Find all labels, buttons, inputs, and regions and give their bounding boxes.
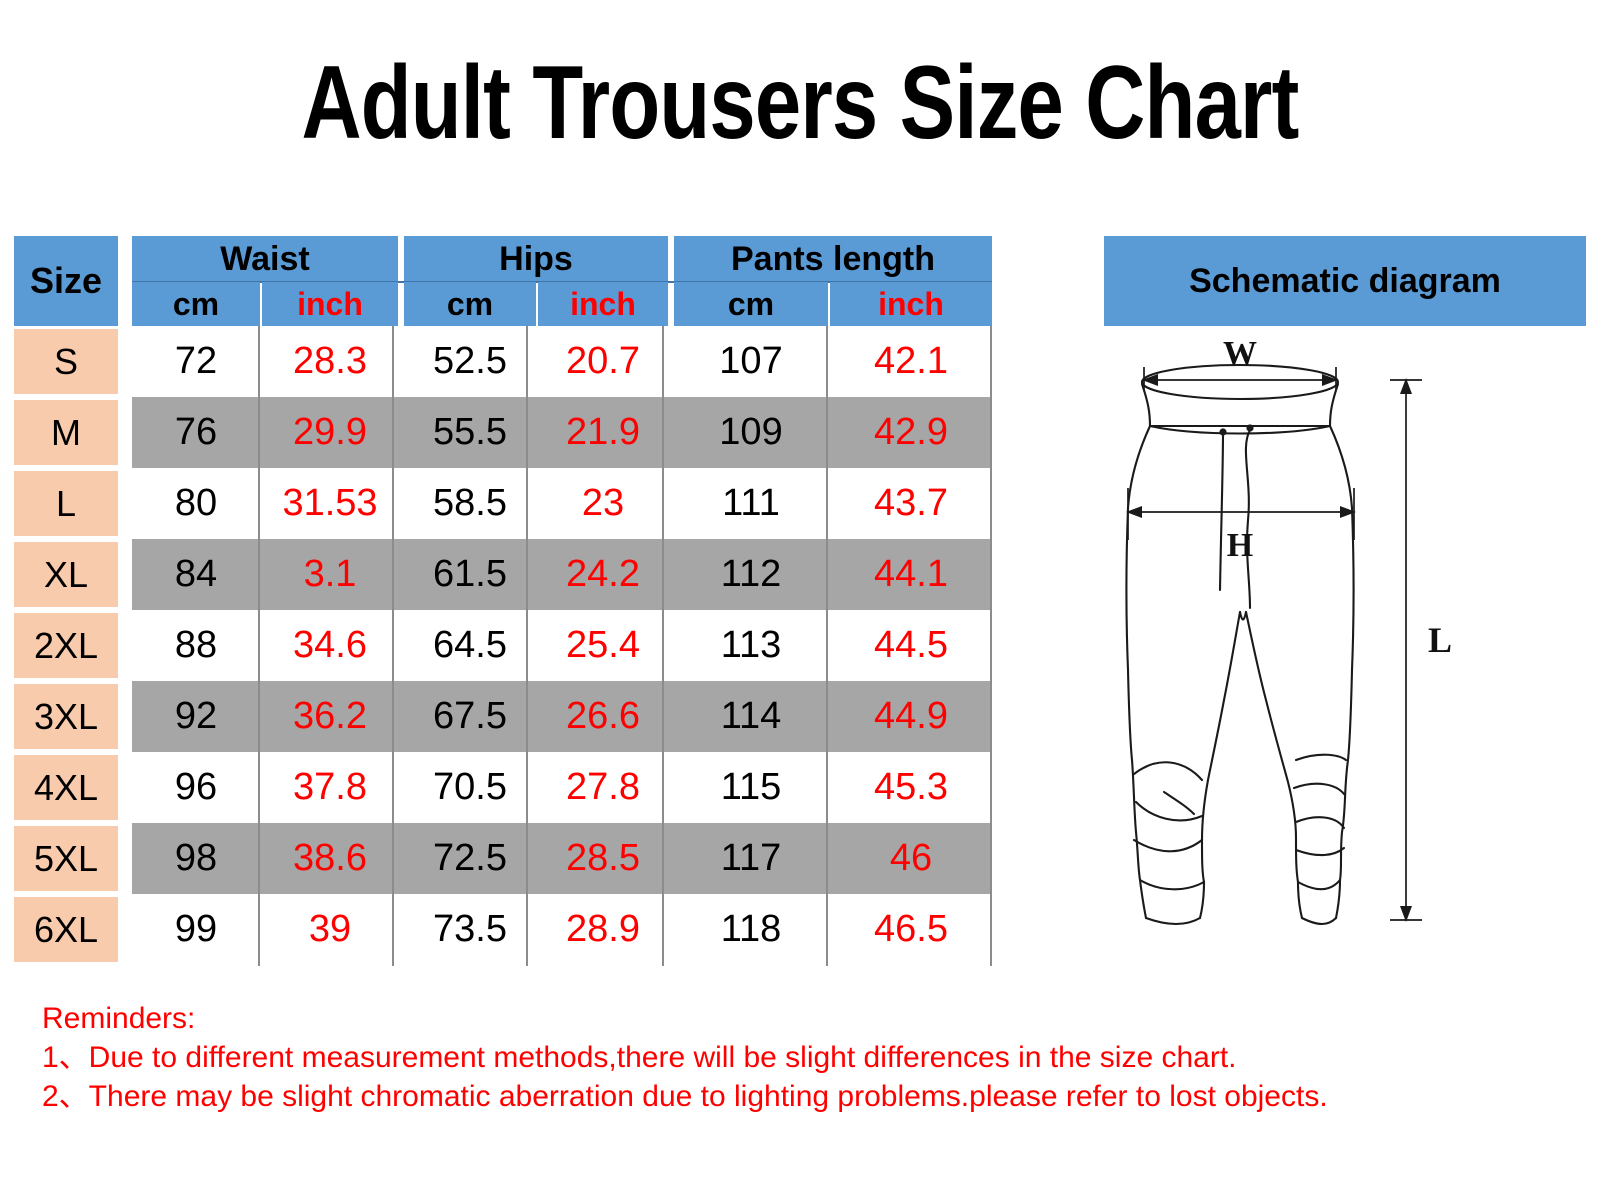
left-cuff-seam bbox=[1134, 840, 1202, 851]
cell-hips-inch: 28.5 bbox=[538, 823, 668, 894]
column-header-size: Size bbox=[14, 236, 118, 326]
right-hem-edge-r bbox=[1336, 880, 1340, 918]
cell-hips-inch: 28.9 bbox=[538, 894, 668, 965]
size-cell: 3XL bbox=[14, 684, 118, 749]
left-hem-edge-l bbox=[1140, 880, 1146, 918]
trousers-drawing-svg: W H L bbox=[1090, 340, 1510, 940]
column-header-length-cm: cm bbox=[674, 282, 828, 326]
column-header-schematic-diagram: Schematic diagram bbox=[1104, 236, 1586, 326]
size-cell: S bbox=[14, 329, 118, 394]
cell-length-inch: 46 bbox=[830, 823, 992, 894]
column-header-hips-cm: cm bbox=[404, 282, 536, 326]
column-group-hips: Hips bbox=[404, 236, 668, 282]
cell-waist-cm: 72 bbox=[132, 326, 260, 397]
grid-line bbox=[258, 326, 260, 966]
eyelet-left bbox=[1219, 428, 1226, 435]
cell-length-cm: 109 bbox=[674, 397, 828, 468]
drawstring-right bbox=[1246, 430, 1250, 608]
cell-hips-cm: 61.5 bbox=[404, 539, 536, 610]
table-header: Size Waist Hips Pants length cm inch cm … bbox=[14, 236, 1586, 326]
cell-hips-cm: 55.5 bbox=[404, 397, 536, 468]
size-cell: 5XL bbox=[14, 826, 118, 891]
column-header-waist-inch: inch bbox=[262, 282, 398, 326]
cell-waist-inch: 39 bbox=[262, 894, 398, 965]
cell-hips-cm: 64.5 bbox=[404, 610, 536, 681]
waistband-seam bbox=[1150, 426, 1330, 434]
cell-length-inch: 44.1 bbox=[830, 539, 992, 610]
left-hem bbox=[1140, 880, 1204, 889]
drawstring-left bbox=[1220, 432, 1223, 590]
cell-waist-cm: 92 bbox=[132, 681, 260, 752]
reminders-heading: Reminders: bbox=[42, 1000, 1582, 1037]
left-hem-bottom bbox=[1146, 918, 1200, 924]
reminder-line-1: 1、Due to different measurement methods,t… bbox=[42, 1039, 1582, 1076]
crotch-notch bbox=[1240, 612, 1246, 620]
grid-line bbox=[526, 326, 528, 966]
cell-length-cm: 112 bbox=[674, 539, 828, 610]
size-cell: 4XL bbox=[14, 755, 118, 820]
cell-waist-inch: 38.6 bbox=[262, 823, 398, 894]
size-cell: L bbox=[14, 471, 118, 536]
cell-length-inch: 44.9 bbox=[830, 681, 992, 752]
cell-waist-cm: 80 bbox=[132, 468, 260, 539]
length-label: L bbox=[1428, 620, 1452, 660]
cell-length-cm: 114 bbox=[674, 681, 828, 752]
cell-hips-cm: 72.5 bbox=[404, 823, 536, 894]
right-hem bbox=[1298, 880, 1340, 889]
size-cell: M bbox=[14, 400, 118, 465]
cell-hips-inch: 25.4 bbox=[538, 610, 668, 681]
right-hem-edge-l bbox=[1298, 882, 1302, 918]
cell-length-inch: 46.5 bbox=[830, 894, 992, 965]
cell-waist-inch: 29.9 bbox=[262, 397, 398, 468]
length-dimension bbox=[1390, 380, 1422, 920]
cell-length-cm: 107 bbox=[674, 326, 828, 397]
size-cell: 2XL bbox=[14, 613, 118, 678]
grid-line bbox=[662, 326, 664, 966]
size-cell: 6XL bbox=[14, 897, 118, 962]
cell-waist-inch: 28.3 bbox=[262, 326, 398, 397]
left-knee-crease-v bbox=[1164, 792, 1194, 814]
cell-waist-inch: 37.8 bbox=[262, 752, 398, 823]
cell-waist-cm: 88 bbox=[132, 610, 260, 681]
cell-hips-cm: 67.5 bbox=[404, 681, 536, 752]
cell-waist-cm: 96 bbox=[132, 752, 260, 823]
left-hem-edge-r bbox=[1200, 882, 1204, 918]
right-cuff-crease bbox=[1296, 817, 1344, 828]
cell-waist-cm: 84 bbox=[132, 539, 260, 610]
right-inner-seam bbox=[1246, 612, 1298, 882]
cell-hips-inch: 26.6 bbox=[538, 681, 668, 752]
cell-length-inch: 42.1 bbox=[830, 326, 992, 397]
cell-length-cm: 117 bbox=[674, 823, 828, 894]
cell-hips-cm: 58.5 bbox=[404, 468, 536, 539]
grid-line bbox=[826, 326, 828, 966]
size-cell: XL bbox=[14, 542, 118, 607]
cell-hips-inch: 23 bbox=[538, 468, 668, 539]
cell-hips-inch: 20.7 bbox=[538, 326, 668, 397]
column-header-hips-inch: inch bbox=[538, 282, 668, 326]
cell-length-cm: 115 bbox=[674, 752, 828, 823]
right-knee-crease-mid bbox=[1294, 784, 1344, 794]
reminders-block: Reminders: 1、Due to different measuremen… bbox=[42, 1000, 1582, 1117]
column-header-waist-cm: cm bbox=[132, 282, 260, 326]
cell-hips-inch: 24.2 bbox=[538, 539, 668, 610]
schematic-diagram-illustration: W H L bbox=[1090, 340, 1510, 940]
cell-hips-cm: 52.5 bbox=[404, 326, 536, 397]
right-knee-crease-top bbox=[1296, 755, 1346, 760]
cell-hips-inch: 21.9 bbox=[538, 397, 668, 468]
cell-waist-inch: 34.6 bbox=[262, 610, 398, 681]
left-inner-seam bbox=[1202, 612, 1240, 882]
cell-waist-inch: 3.1 bbox=[262, 539, 398, 610]
eyelet-right bbox=[1246, 424, 1253, 431]
cell-hips-cm: 70.5 bbox=[404, 752, 536, 823]
right-outer-seam bbox=[1330, 426, 1354, 880]
cell-length-inch: 45.3 bbox=[830, 752, 992, 823]
cell-hips-inch: 27.8 bbox=[538, 752, 668, 823]
cell-hips-cm: 73.5 bbox=[404, 894, 536, 965]
left-outer-seam bbox=[1127, 426, 1151, 880]
waist-label: W bbox=[1223, 340, 1257, 372]
right-hem-bottom bbox=[1302, 918, 1336, 924]
cell-waist-cm: 99 bbox=[132, 894, 260, 965]
column-group-waist: Waist bbox=[132, 236, 398, 282]
left-knee-crease-top bbox=[1134, 762, 1202, 780]
size-chart-page: Adult Trousers Size Chart Size Waist Hip… bbox=[0, 0, 1600, 1193]
cell-length-inch: 44.5 bbox=[830, 610, 992, 681]
grid-line bbox=[392, 326, 394, 966]
cell-length-cm: 111 bbox=[674, 468, 828, 539]
page-title: Adult Trousers Size Chart bbox=[160, 48, 1440, 158]
cell-length-inch: 43.7 bbox=[830, 468, 992, 539]
cell-waist-inch: 36.2 bbox=[262, 681, 398, 752]
grid-line bbox=[990, 326, 992, 966]
cell-length-cm: 118 bbox=[674, 894, 828, 965]
cell-waist-inch: 31.53 bbox=[262, 468, 398, 539]
column-header-length-inch: inch bbox=[830, 282, 992, 326]
column-group-pants-length: Pants length bbox=[674, 236, 992, 282]
cell-length-inch: 42.9 bbox=[830, 397, 992, 468]
hips-label: H bbox=[1227, 527, 1253, 564]
waistband-body bbox=[1142, 384, 1338, 426]
cell-length-cm: 113 bbox=[674, 610, 828, 681]
cell-waist-cm: 98 bbox=[132, 823, 260, 894]
cell-waist-cm: 76 bbox=[132, 397, 260, 468]
reminder-line-2: 2、There may be slight chromatic aberrati… bbox=[42, 1078, 1582, 1115]
right-cuff-seam bbox=[1296, 848, 1344, 855]
